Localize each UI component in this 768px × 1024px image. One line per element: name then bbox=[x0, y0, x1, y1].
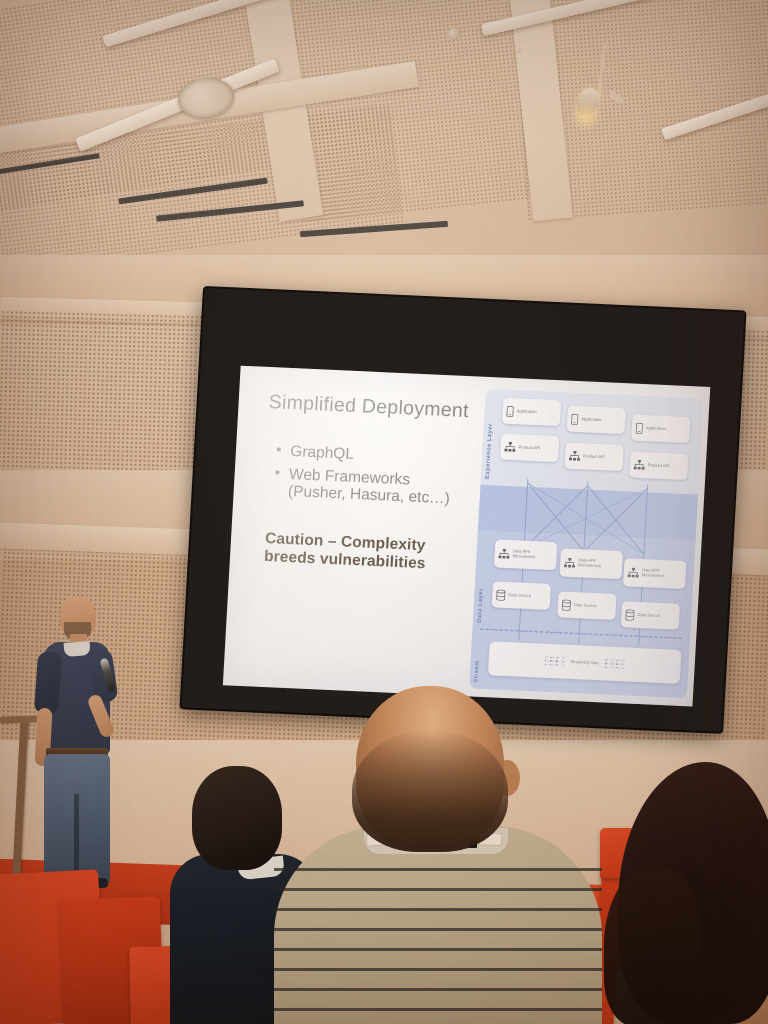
caution-callout: Caution – Complexity breeds vulnerabilit… bbox=[264, 530, 481, 576]
node-application: Application bbox=[567, 406, 626, 435]
node-data-source: Data Source bbox=[621, 601, 680, 630]
projection-screen: Simplified Deployment • GraphQL • Web Fr… bbox=[182, 288, 745, 732]
bullet-text: Web Frameworks (Pusher, Hasura, etc…) bbox=[288, 466, 452, 508]
node-label: Product API bbox=[518, 445, 540, 451]
database-icon bbox=[625, 609, 635, 620]
slide-title: Simplified Deployment bbox=[268, 391, 469, 423]
node-data-api: Data API/ Microservice bbox=[623, 558, 687, 589]
slide-bullet-list: • GraphQL • Web Frameworks (Pusher, Hasu… bbox=[273, 442, 486, 514]
bullet-marker-icon: • bbox=[274, 465, 280, 481]
mobile-device-icon bbox=[636, 422, 644, 433]
audience-head bbox=[192, 766, 282, 870]
database-icon bbox=[496, 589, 506, 600]
node-label: Data Source bbox=[637, 613, 660, 619]
node-data-api: Data API/ Microservice bbox=[559, 548, 623, 579]
audience-hair bbox=[352, 730, 508, 852]
node-application: Application bbox=[502, 398, 561, 427]
list-item: • Web Frameworks (Pusher, Hasura, etc…) bbox=[273, 465, 485, 509]
node-label: Application bbox=[646, 426, 666, 431]
node-data-api: Data API/ Microservice bbox=[494, 539, 558, 570]
photo-scene: Simplified Deployment • GraphQL • Web Fr… bbox=[0, 0, 768, 1024]
smoke-detector-icon bbox=[516, 48, 521, 53]
hierarchy-icon bbox=[634, 460, 646, 470]
node-data-source: Data Source bbox=[492, 581, 551, 610]
node-product-api: Product API bbox=[564, 443, 623, 472]
mobile-device-icon bbox=[506, 405, 514, 416]
node-label: Data API/ Microservice bbox=[642, 569, 665, 579]
presenter bbox=[28, 596, 124, 886]
smoke-detector-icon bbox=[448, 28, 460, 40]
node-label: Data API/ Microservice bbox=[512, 550, 535, 560]
node-data-source: Data Source bbox=[557, 591, 616, 620]
audience-member-center: LMTRIX LMTRIX bbox=[288, 686, 588, 1024]
architecture-diagram: Experience Layer Data Layer Stream Appli… bbox=[469, 389, 704, 698]
audience-striped-shirt bbox=[274, 826, 602, 1024]
node-label: Data Source bbox=[508, 593, 531, 599]
hierarchy-icon bbox=[504, 442, 516, 452]
bullet-marker-icon: • bbox=[276, 442, 282, 458]
presentation-slide: Simplified Deployment • GraphQL • Web Fr… bbox=[223, 366, 710, 707]
hierarchy-icon bbox=[628, 567, 640, 577]
mobile-device-icon bbox=[571, 413, 579, 424]
database-icon bbox=[562, 599, 572, 610]
node-label: Product API bbox=[648, 463, 670, 469]
node-application: Application bbox=[631, 415, 690, 444]
node-label: Data API/ Microservice bbox=[578, 559, 601, 569]
node-label: Streaming Data bbox=[570, 660, 599, 666]
node-label: Application bbox=[581, 417, 601, 422]
dot-arrow-flow-icon bbox=[605, 659, 625, 669]
node-product-api: Product API bbox=[500, 434, 559, 463]
hierarchy-icon bbox=[564, 558, 576, 568]
node-label: Application bbox=[516, 409, 536, 414]
hierarchy-icon bbox=[569, 451, 581, 461]
hierarchy-icon bbox=[498, 549, 510, 559]
node-label: Data Source bbox=[574, 603, 597, 609]
dot-arrow-flow-icon bbox=[544, 656, 564, 666]
audience-member-right bbox=[600, 770, 768, 1024]
bullet-text: GraphQL bbox=[290, 443, 355, 463]
node-product-api: Product API bbox=[629, 451, 688, 480]
node-label: Product API bbox=[583, 454, 605, 460]
